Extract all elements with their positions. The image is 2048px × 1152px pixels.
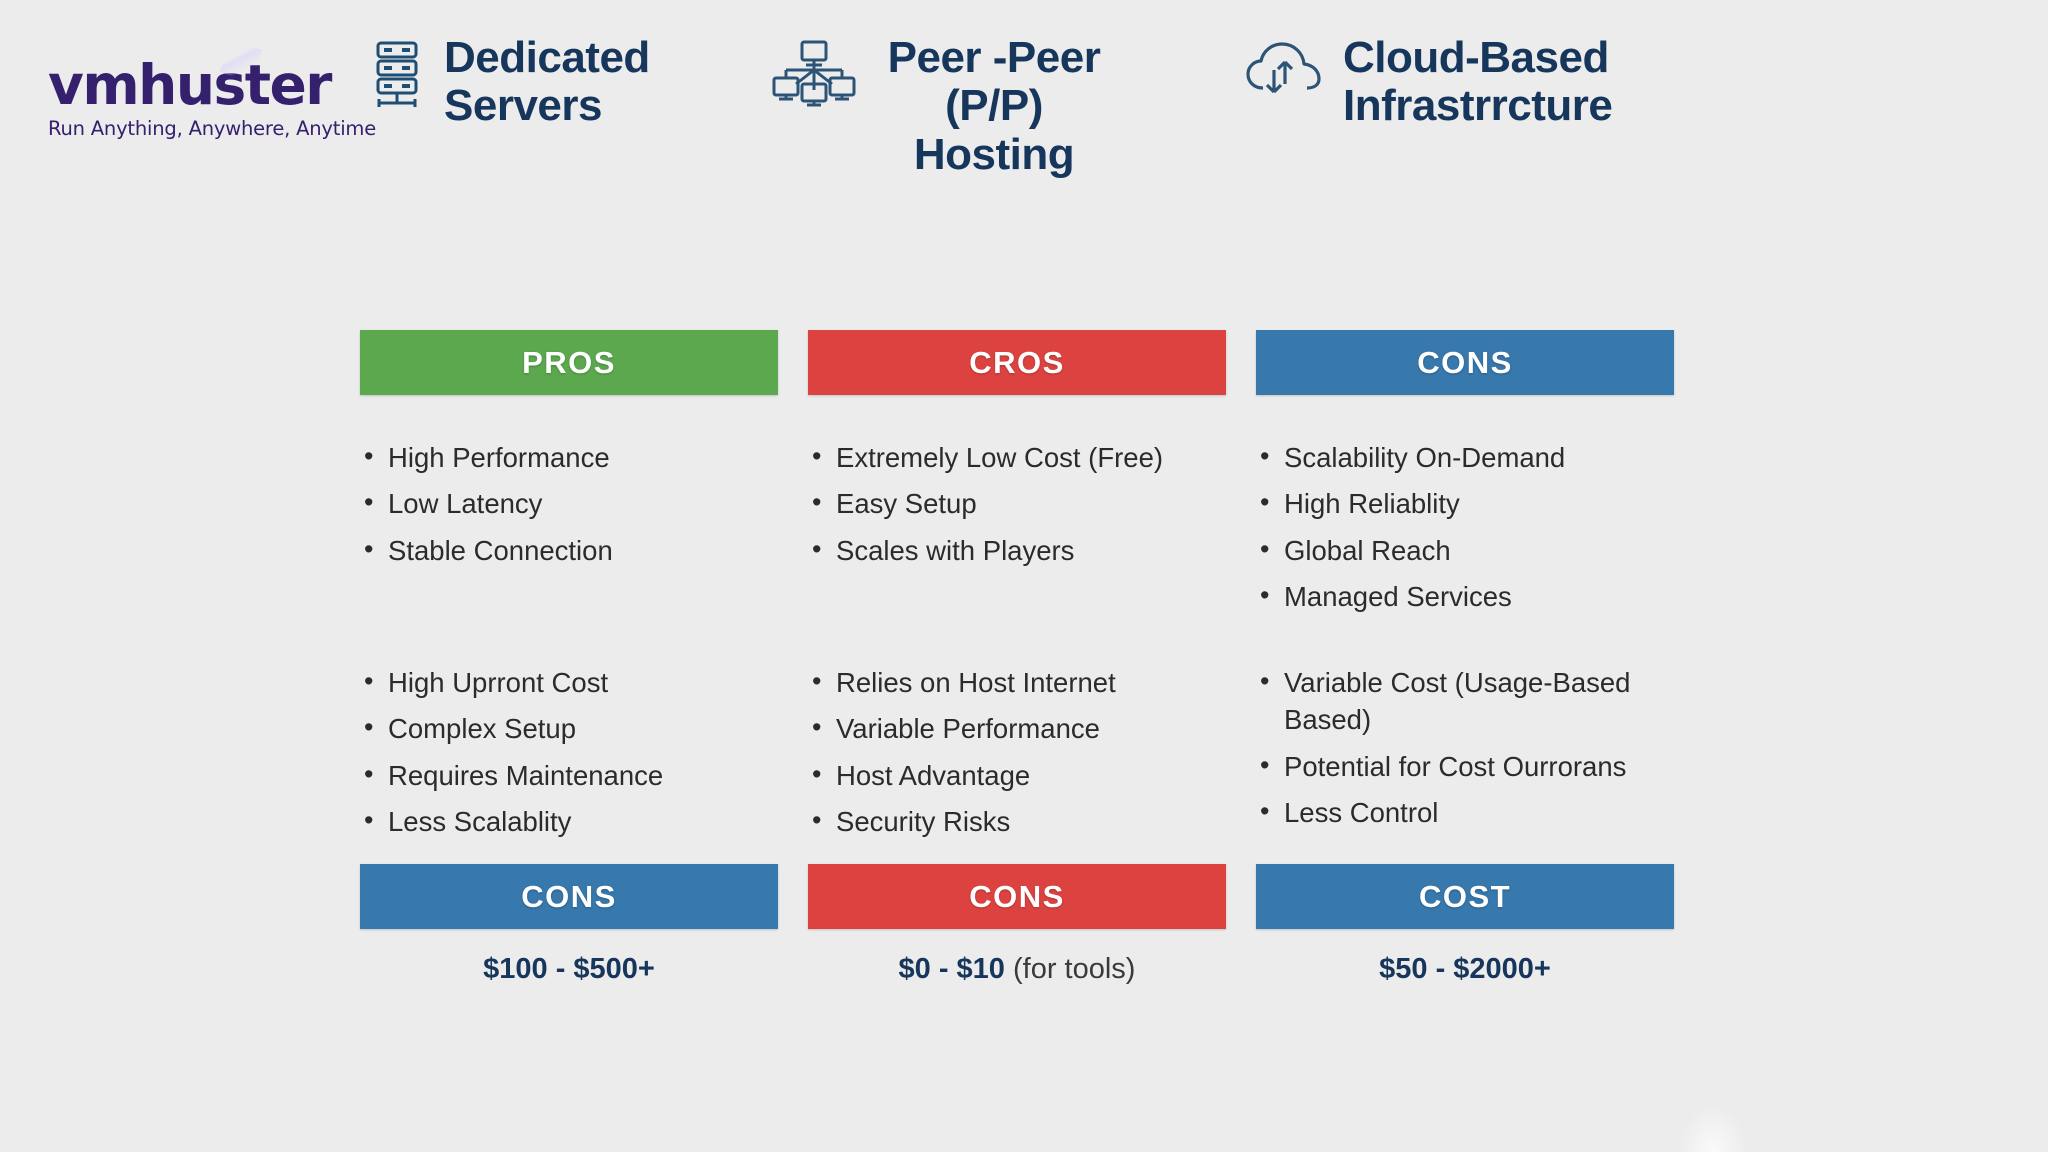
price-amount: $50 - $2000+: [1379, 953, 1551, 985]
top-bullets-cloud-based: Scalability On-DemandHigh ReliablityGlob…: [1256, 439, 1674, 644]
bottom-bullets-cloud-based: Variable Cost (Usage-Based Based)Potenti…: [1256, 664, 1674, 854]
list-item: Managed Services: [1256, 578, 1674, 615]
header-row: vmhuster Run Anything, Anywhere, Anytime: [0, 0, 2048, 250]
bottom-banner-label-dedicated-servers: CONS: [521, 879, 617, 915]
list-item: Global Reach: [1256, 532, 1674, 569]
column-dedicated-servers: PROS: [360, 330, 778, 395]
slide-canvas: vmhuster Run Anything, Anywhere, Anytime: [0, 0, 2048, 1152]
cloud-sync-icon: [1245, 40, 1323, 105]
cost-block-peer-to-peer: CONS $0 - $10 (for tools): [808, 854, 1226, 986]
list-item: High Reliablity: [1256, 485, 1674, 522]
comparison-grid: PROS CROS CONS High PerformanceLow Laten…: [360, 330, 1730, 986]
top-bullets-row: High PerformanceLow LatencyStable Connec…: [360, 395, 1730, 644]
top-bullets-peer-to-peer: Extremely Low Cost (Free)Easy SetupScale…: [808, 439, 1226, 644]
list-item: Variable Performance: [808, 710, 1226, 747]
list-item: Stable Connection: [360, 532, 778, 569]
header-column-dedicated-servers: Dedicated Servers: [370, 34, 700, 131]
bullet-list: Scalability On-DemandHigh ReliablityGlob…: [1256, 439, 1674, 616]
bottom-banner-label-cloud-based: COST: [1419, 879, 1511, 915]
list-item: Variable Cost (Usage-Based Based): [1256, 664, 1674, 739]
bottom-banner-label-peer-to-peer: CONS: [969, 879, 1065, 915]
bottom-bullets-peer-to-peer: Relies on Host InternetVariable Performa…: [808, 664, 1226, 854]
price-note: (for tools): [1005, 953, 1136, 985]
bullet-list: Relies on Host InternetVariable Performa…: [808, 664, 1226, 841]
corner-glow-decoration: [1678, 1104, 1748, 1152]
bullet-list: Variable Cost (Usage-Based Based)Potenti…: [1256, 664, 1674, 832]
top-banner-row: PROS CROS CONS: [360, 330, 1730, 395]
list-item: Low Latency: [360, 485, 778, 522]
bottom-banner-dedicated-servers[interactable]: CONS: [360, 864, 778, 929]
list-item: Less Scalablity: [360, 803, 778, 840]
list-item: High Uprront Cost: [360, 664, 778, 701]
top-banner-label-cloud-based: CONS: [1417, 345, 1513, 381]
list-item: Requires Maintenance: [360, 757, 778, 794]
bottom-banner-row: CONS $100 - $500+ CONS $0 - $10 (for too…: [360, 854, 1730, 986]
list-item: High Performance: [360, 439, 778, 476]
header-title-cloud-based: Cloud-Based Infrastrrcture: [1343, 34, 1643, 131]
column-peer-to-peer: CROS: [808, 330, 1226, 395]
list-item: Complex Setup: [360, 710, 778, 747]
bullet-list: Extremely Low Cost (Free)Easy SetupScale…: [808, 439, 1226, 569]
bottom-bullets-dedicated-servers: High Uprront CostComplex SetupRequires M…: [360, 664, 778, 854]
bullet-list: High Uprront CostComplex SetupRequires M…: [360, 664, 778, 841]
list-item: Scalability On-Demand: [1256, 439, 1674, 476]
top-banner-dedicated-servers[interactable]: PROS: [360, 330, 778, 395]
header-title-dedicated-servers: Dedicated Servers: [444, 34, 669, 131]
price-peer-to-peer: $0 - $10 (for tools): [808, 953, 1226, 986]
price-amount: $0 - $10: [899, 953, 1005, 985]
price-cloud-based: $50 - $2000+: [1256, 953, 1674, 986]
cost-block-cloud-based: COST $50 - $2000+: [1256, 854, 1674, 986]
server-rack-icon: [370, 40, 424, 113]
list-item: Extremely Low Cost (Free): [808, 439, 1226, 476]
bottom-banner-peer-to-peer[interactable]: CONS: [808, 864, 1226, 929]
list-item: Potential for Cost Ourrorans: [1256, 748, 1674, 785]
top-banner-label-peer-to-peer: CROS: [969, 345, 1065, 381]
header-column-cloud-based: Cloud-Based Infrastrrcture: [1245, 34, 1745, 131]
top-banner-peer-to-peer[interactable]: CROS: [808, 330, 1226, 395]
bottom-bullets-row: High Uprront CostComplex SetupRequires M…: [360, 644, 1730, 854]
list-item: Less Control: [1256, 794, 1674, 831]
top-bullets-dedicated-servers: High PerformanceLow LatencyStable Connec…: [360, 439, 778, 644]
top-banner-label-dedicated-servers: PROS: [522, 345, 616, 381]
list-item: Scales with Players: [808, 532, 1226, 569]
brand-logo: vmhuster Run Anything, Anywhere, Anytime: [48, 58, 358, 140]
network-peer-icon: [770, 40, 858, 113]
brand-wordmark: vmhuster: [48, 58, 331, 113]
top-banner-cloud-based[interactable]: CONS: [1256, 330, 1674, 395]
header-title-peer-to-peer: Peer -Peer (P/P) Hosting: [878, 34, 1110, 179]
cost-block-dedicated-servers: CONS $100 - $500+: [360, 854, 778, 986]
list-item: Security Risks: [808, 803, 1226, 840]
price-amount: $100 - $500+: [483, 953, 655, 985]
list-item: Relies on Host Internet: [808, 664, 1226, 701]
bullet-list: High PerformanceLow LatencyStable Connec…: [360, 439, 778, 569]
bottom-banner-cloud-based[interactable]: COST: [1256, 864, 1674, 929]
list-item: Host Advantage: [808, 757, 1226, 794]
price-dedicated-servers: $100 - $500+: [360, 953, 778, 986]
column-cloud-based: CONS: [1256, 330, 1674, 395]
brand-tagline: Run Anything, Anywhere, Anytime: [48, 117, 358, 140]
header-column-peer-to-peer: Peer -Peer (P/P) Hosting: [770, 34, 1110, 179]
list-item: Easy Setup: [808, 485, 1226, 522]
